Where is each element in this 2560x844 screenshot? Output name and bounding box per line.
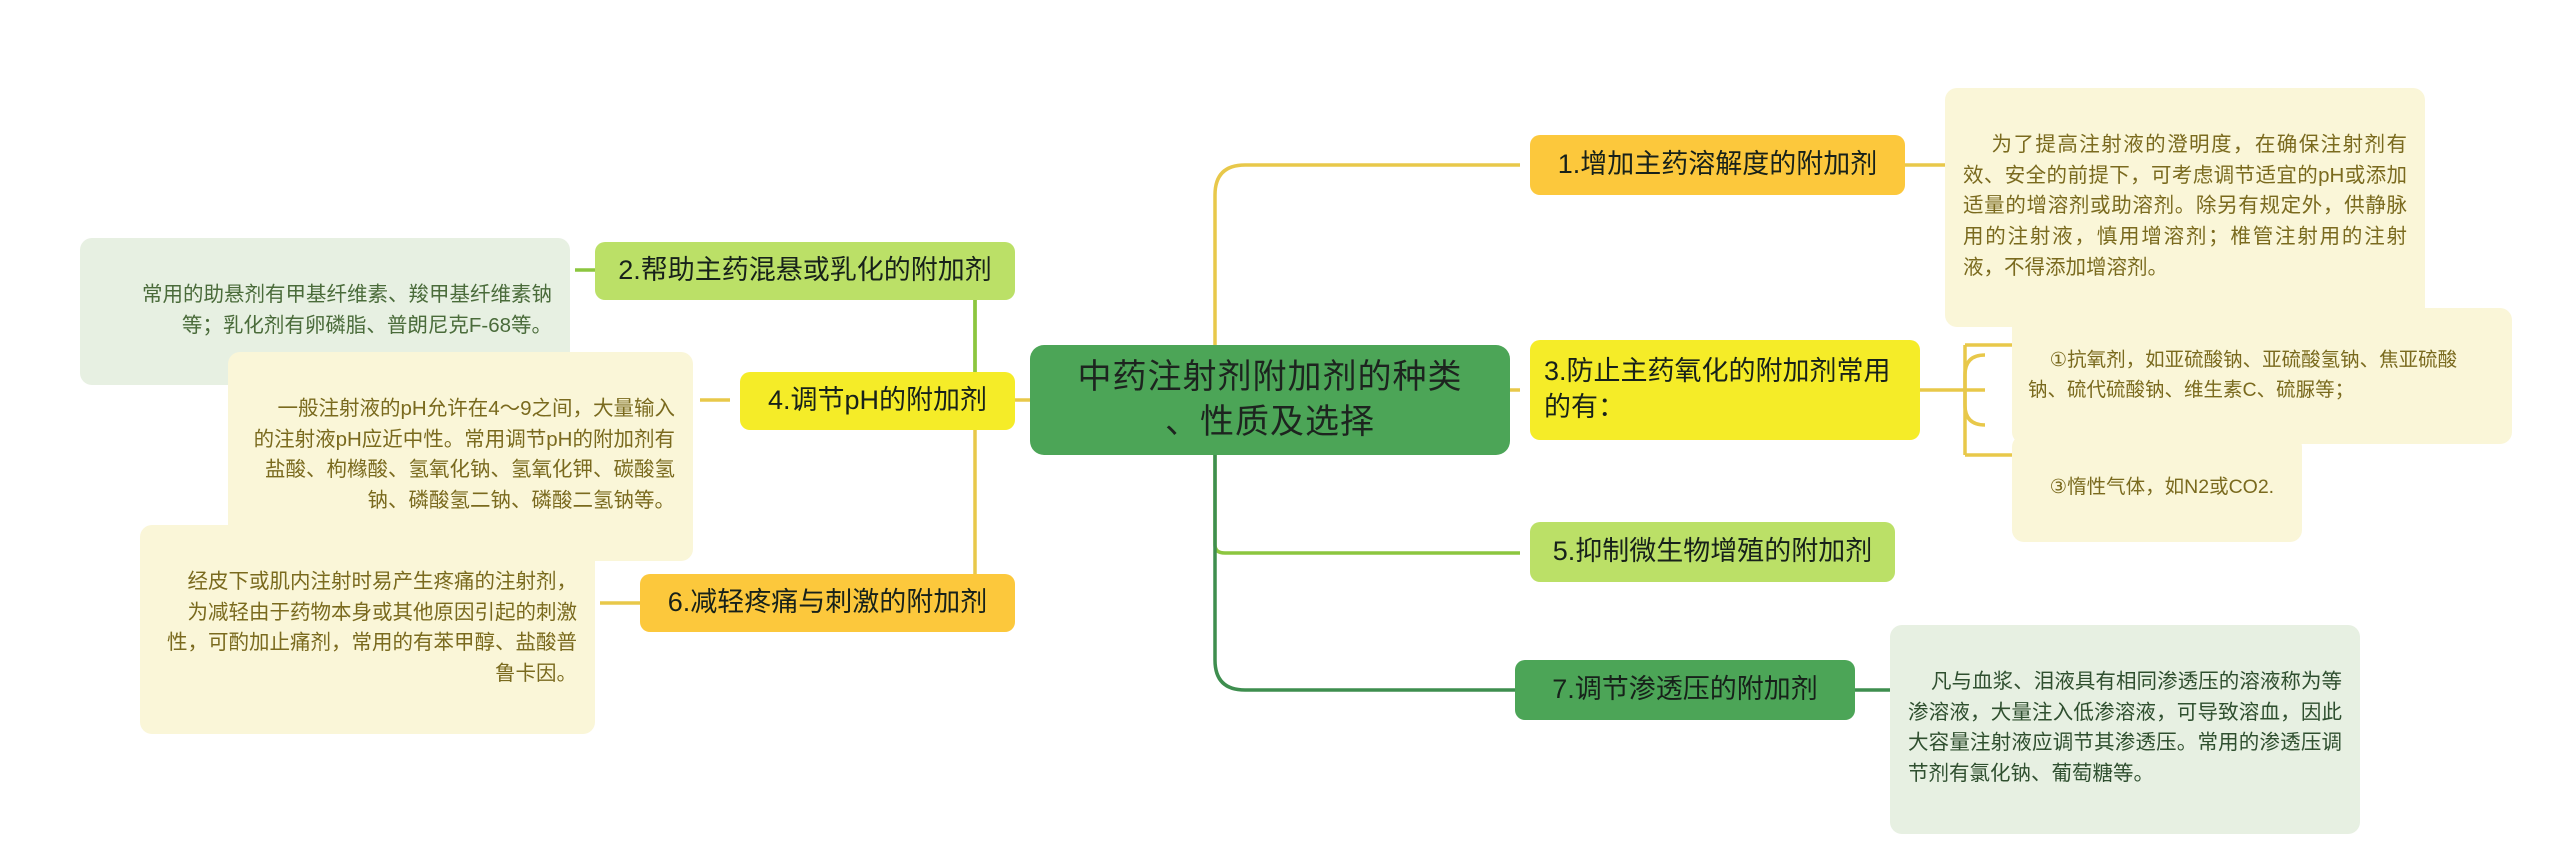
branch-node-4[interactable]: 4.调节pH的附加剂	[740, 372, 1015, 430]
central-node-label: 中药注射剂附加剂的种类 、性质及选择	[1078, 355, 1463, 445]
branch-1-detail-text: 为了提高注射液的澄明度，在确保注射剂有效、安全的前提下，可考虑调节适宜的pH或添…	[1963, 133, 2407, 279]
branch-node-5[interactable]: 5.抑制微生物增殖的附加剂	[1530, 522, 1895, 582]
branch-node-3[interactable]: 3.防止主药氧化的附加剂常用的有：	[1530, 340, 1920, 440]
branch-3-child-2: ③惰性气体，如N2或CO2.	[2012, 435, 2302, 542]
branch-6-detail-text: 经皮下或肌内注射时易产生疼痛的注射剂，为减轻由于药物本身或其他原因引起的刺激性，…	[167, 570, 577, 685]
branch-3-child-1: ①抗氧剂，如亚硫酸钠、亚硫酸氢钠、焦亚硫酸钠、硫代硫酸钠、维生素C、硫脲等；	[2012, 308, 2512, 444]
branch-node-7-label: 7.调节渗透压的附加剂	[1552, 672, 1818, 708]
branch-node-2[interactable]: 2.帮助主药混悬或乳化的附加剂	[595, 242, 1015, 300]
branch-1-detail: 为了提高注射液的澄明度，在确保注射剂有效、安全的前提下，可考虑调节适宜的pH或添…	[1945, 88, 2425, 327]
branch-node-3-label: 3.防止主药氧化的附加剂常用的有：	[1544, 354, 1906, 425]
branch-7-detail: 凡与血浆、泪液具有相同渗透压的溶液称为等渗溶液，大量注入低渗溶液，可导致溶血，因…	[1890, 625, 2360, 834]
branch-node-5-label: 5.抑制微生物增殖的附加剂	[1553, 534, 1873, 570]
branch-node-7[interactable]: 7.调节渗透压的附加剂	[1515, 660, 1855, 720]
branch-7-detail-text: 凡与血浆、泪液具有相同渗透压的溶液称为等渗溶液，大量注入低渗溶液，可导致溶血，因…	[1908, 670, 2342, 785]
branch-node-6-label: 6.减轻疼痛与刺激的附加剂	[668, 585, 988, 621]
branch-6-detail: 经皮下或肌内注射时易产生疼痛的注射剂，为减轻由于药物本身或其他原因引起的刺激性，…	[140, 525, 595, 734]
central-node[interactable]: 中药注射剂附加剂的种类 、性质及选择	[1030, 345, 1510, 455]
branch-3-child-2-text: ③惰性气体，如N2或CO2.	[2050, 476, 2274, 498]
branch-node-4-label: 4.调节pH的附加剂	[768, 383, 987, 419]
branch-3-child-1-text: ①抗氧剂，如亚硫酸钠、亚硫酸氢钠、焦亚硫酸钠、硫代硫酸钠、维生素C、硫脲等；	[2028, 349, 2457, 400]
branch-node-6[interactable]: 6.减轻疼痛与刺激的附加剂	[640, 574, 1015, 632]
branch-4-detail-text: 一般注射液的pH允许在4～9之间，大量输入的注射液pH应近中性。常用调节pH的附…	[254, 397, 675, 512]
branch-2-detail-text: 常用的助悬剂有甲基纤维素、羧甲基纤维素钠等；乳化剂有卵磷脂、普朗尼克F-68等。	[142, 283, 552, 337]
mindmap-canvas: 中药注射剂附加剂的种类 、性质及选择 1.增加主药溶解度的附加剂 为了提高注射液…	[0, 0, 2560, 844]
branch-node-1[interactable]: 1.增加主药溶解度的附加剂	[1530, 135, 1905, 195]
branch-node-2-label: 2.帮助主药混悬或乳化的附加剂	[618, 253, 992, 289]
branch-node-1-label: 1.增加主药溶解度的附加剂	[1558, 147, 1878, 183]
